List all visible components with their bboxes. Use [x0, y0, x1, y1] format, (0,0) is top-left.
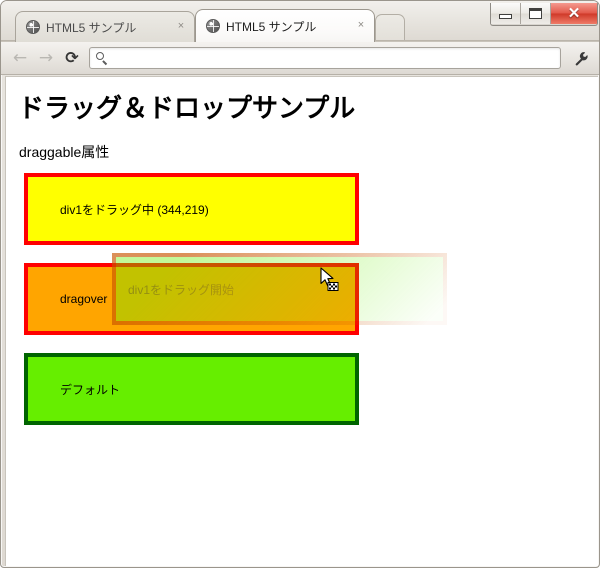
maximize-icon — [529, 8, 542, 19]
close-window-button[interactable]: ✕ — [551, 3, 597, 24]
window-controls: ✕ — [490, 3, 598, 26]
page-subtitle: draggable属性 — [19, 142, 109, 162]
drop-target-dragover[interactable]: dragover — [24, 263, 359, 335]
menu-button[interactable] — [567, 45, 595, 71]
draggable-div1-label: div1をドラッグ中 (344,219) — [60, 201, 209, 218]
tab-html5-sample-1[interactable]: HTML5 サンプル × — [15, 11, 195, 42]
close-icon[interactable]: × — [174, 20, 188, 34]
close-icon[interactable]: × — [354, 19, 368, 33]
browser-window: HTML5 サンプル × HTML5 サンプル × ✕ ← → — [0, 0, 600, 568]
maximize-button[interactable] — [521, 3, 551, 24]
page-title: ドラッグ＆ドロップサンプル — [18, 88, 355, 125]
page-viewport: ドラッグ＆ドロップサンプル draggable属性 div1をドラッグ中 (34… — [5, 76, 598, 566]
browser-toolbar: ← → ⟳ — [1, 42, 600, 75]
tab-title: HTML5 サンプル — [46, 19, 174, 36]
minimize-button[interactable] — [491, 3, 521, 24]
new-tab-button[interactable] — [375, 14, 405, 43]
globe-icon — [206, 19, 220, 33]
drop-target-default-label: デフォルト — [60, 381, 120, 398]
reload-button[interactable]: ⟳ — [59, 46, 85, 70]
tab-strip: HTML5 サンプル × HTML5 サンプル × ✕ — [1, 1, 600, 42]
address-bar[interactable] — [89, 47, 561, 69]
back-button[interactable]: ← — [7, 46, 33, 70]
drop-target-default[interactable]: デフォルト — [24, 353, 359, 425]
forward-button[interactable]: → — [33, 46, 59, 70]
reload-icon: ⟳ — [65, 50, 78, 66]
arrow-right-icon: → — [39, 50, 53, 67]
globe-icon — [26, 20, 40, 34]
wrench-icon — [574, 51, 589, 66]
tab-html5-sample-2[interactable]: HTML5 サンプル × — [195, 9, 375, 42]
arrow-left-icon: ← — [13, 50, 27, 67]
minimize-icon — [499, 14, 512, 19]
drop-target-dragover-label: dragover — [60, 292, 107, 306]
tab-title: HTML5 サンプル — [226, 18, 354, 35]
draggable-div1[interactable]: div1をドラッグ中 (344,219) — [24, 173, 359, 245]
page-content: ドラッグ＆ドロップサンプル draggable属性 div1をドラッグ中 (34… — [6, 77, 598, 566]
search-icon — [96, 52, 109, 65]
close-icon: ✕ — [568, 6, 581, 21]
